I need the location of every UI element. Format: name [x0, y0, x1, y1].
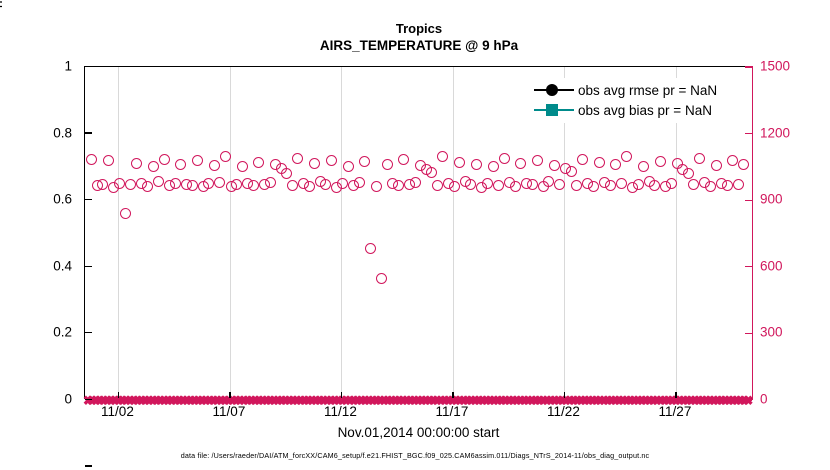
obs-possible-marker: [454, 157, 465, 168]
obs-possible-marker: [666, 178, 677, 189]
x-axis-tick-label: 11/27: [659, 404, 692, 419]
obs-possible-marker: [382, 159, 393, 170]
chart-title-line1: Tropics: [84, 20, 754, 37]
obs-possible-marker: [515, 158, 526, 169]
x-axis-tick-mark: [564, 392, 565, 398]
obs-possible-marker: [170, 178, 181, 189]
y-axis-right-label: # of obs: o=possible; x=assimilated: [812, 0, 826, 60]
obs-possible-marker: [187, 180, 198, 191]
obs-possible-marker: [655, 156, 666, 167]
legend-marker-circle-icon: [532, 81, 576, 99]
obs-possible-marker: [437, 151, 448, 162]
x-gridline: [118, 67, 119, 398]
obs-possible-marker: [510, 181, 521, 192]
y-axis-right-tick-mark: [745, 333, 752, 334]
obs-possible-marker: [103, 155, 114, 166]
obs-possible-marker: [192, 155, 203, 166]
obs-possible-marker: [292, 153, 303, 164]
y-axis-left-tick-mark: [85, 266, 92, 267]
obs-possible-marker: [320, 179, 331, 190]
obs-possible-marker: [326, 155, 337, 166]
y-axis-left-tick-mark: [85, 465, 92, 466]
right-axis-spine: [752, 66, 753, 400]
obs-possible-marker: [203, 178, 214, 189]
obs-possible-marker: [343, 161, 354, 172]
obs-possible-marker: [393, 180, 404, 191]
x-axis-tick-mark: [341, 392, 342, 398]
obs-possible-marker: [566, 166, 577, 177]
obs-possible-marker: [711, 160, 722, 171]
obs-possible-marker: [549, 160, 560, 171]
obs-possible-marker: [493, 180, 504, 191]
x-axis-tick-label: 11/22: [547, 404, 580, 419]
y-axis-left-tick-label: 0.8: [30, 125, 72, 140]
obs-possible-marker: [153, 176, 164, 187]
chart-title-line2: AIRS_TEMPERATURE @ 9 hPa: [84, 37, 754, 54]
obs-possible-marker: [577, 154, 588, 165]
obs-possible-marker: [571, 180, 582, 191]
obs-possible-marker: [488, 161, 499, 172]
obs-possible-marker: [588, 181, 599, 192]
y-axis-right-tick-label: 900: [760, 192, 783, 207]
y-axis-right-tick-mark: [745, 133, 752, 134]
obs-possible-marker: [722, 180, 733, 191]
obs-possible-marker: [426, 167, 437, 178]
y-axis-right-tick-label: 0: [760, 392, 768, 407]
chart-legend: obs avg rmse pr = NaNobs avg bias pr = N…: [528, 78, 723, 123]
obs-possible-marker: [738, 159, 749, 170]
y-axis-right-tick-mark: [745, 399, 752, 400]
obs-possible-marker: [594, 157, 605, 168]
obs-possible-marker: [705, 181, 716, 192]
obs-possible-marker: [97, 179, 108, 190]
obs-possible-marker: [410, 177, 421, 188]
x-axis-tick-mark: [229, 392, 230, 398]
obs-possible-marker: [616, 178, 627, 189]
y-axis-right-tick-label: 300: [760, 325, 783, 340]
obs-possible-marker: [125, 179, 136, 190]
obs-possible-marker: [432, 180, 443, 191]
y-axis-right-tick-mark: [745, 266, 752, 267]
x-axis-tick-mark: [452, 392, 453, 398]
x-axis-tick-mark: [675, 392, 676, 398]
data-file-caption: data file: /Users/raeder/DAI/ATM_forcXX/…: [0, 451, 830, 460]
obs-possible-marker: [337, 178, 348, 189]
obs-possible-marker: [638, 161, 649, 172]
x-axis-tick-label: 11/02: [101, 404, 134, 419]
y-axis-right-tick-label: 600: [760, 258, 783, 273]
obs-possible-marker: [142, 181, 153, 192]
obs-possible-marker: [265, 177, 276, 188]
y-axis-right-tick-mark: [745, 66, 752, 67]
obs-possible-marker: [633, 179, 644, 190]
chart-title: Tropics AIRS_TEMPERATURE @ 9 hPa: [84, 20, 754, 54]
obs-possible-marker: [175, 159, 186, 170]
obs-possible-marker: [727, 155, 738, 166]
x-axis-tick-label: 11/12: [324, 404, 357, 419]
y-axis-left-tick-label: 0.4: [30, 258, 72, 273]
y-axis-left-tick-label: 0: [30, 392, 72, 407]
obs-possible-marker: [148, 161, 159, 172]
y-axis-right-tick-mark: [745, 200, 752, 201]
x-axis-tick-label: 11/07: [213, 404, 246, 419]
obs-possible-marker: [449, 181, 460, 192]
legend-item[interactable]: obs avg rmse pr = NaN: [532, 80, 717, 100]
obs-possible-marker: [231, 179, 242, 190]
y-axis-left-tick-mark: [85, 199, 92, 200]
y-axis-left-label: rmse and bias (model - observation): [0, 0, 5, 50]
obs-possible-marker: [605, 180, 616, 191]
obs-possible-marker: [371, 181, 382, 192]
obs-possible-marker: [610, 159, 621, 170]
legend-marker-square-icon: [532, 101, 576, 119]
obs-possible-marker: [465, 179, 476, 190]
obs-possible-marker: [471, 159, 482, 170]
obs-possible-marker: [281, 168, 292, 179]
legend-item-label: obs avg bias pr = NaN: [576, 103, 712, 118]
obs-possible-marker: [398, 154, 409, 165]
obs-possible-marker: [309, 158, 320, 169]
x-axis-label: Nov.01,2014 00:00:00 start: [84, 425, 753, 440]
obs-possible-marker: [287, 180, 298, 191]
legend-item[interactable]: obs avg bias pr = NaN: [532, 100, 717, 120]
y-axis-left-tick-mark: [85, 332, 92, 333]
y-axis-left-tick-label: 0.2: [30, 325, 72, 340]
obs-possible-marker: [248, 180, 259, 191]
obs-possible-marker: [359, 156, 370, 167]
y-axis-left-tick-label: 0.6: [30, 192, 72, 207]
obs-possible-marker: [482, 178, 493, 189]
obs-possible-marker: [354, 177, 365, 188]
obs-possible-marker: [114, 178, 125, 189]
obs-possible-marker: [543, 176, 554, 187]
x-gridline: [453, 67, 454, 398]
obs-possible-marker: [365, 243, 376, 254]
obs-possible-marker: [86, 154, 97, 165]
obs-possible-marker: [376, 273, 387, 284]
obs-possible-marker: [683, 168, 694, 179]
figure-canvas: Tropics AIRS_TEMPERATURE @ 9 hPa rmse an…: [0, 0, 830, 470]
y-axis-right-tick-label: 1200: [760, 125, 790, 140]
obs-possible-marker: [253, 157, 264, 168]
obs-possible-marker: [131, 158, 142, 169]
y-axis-left-tick-label: 1: [30, 59, 72, 74]
obs-possible-marker: [304, 181, 315, 192]
obs-possible-marker: [621, 151, 632, 162]
obs-possible-marker: [532, 155, 543, 166]
obs-possible-marker: [209, 160, 220, 171]
obs-possible-marker: [733, 179, 744, 190]
obs-possible-marker: [237, 161, 248, 172]
y-axis-left-tick-mark: [85, 132, 92, 133]
legend-item-label: obs avg rmse pr = NaN: [576, 83, 717, 98]
obs-possible-marker: [649, 180, 660, 191]
obs-possible-marker: [120, 208, 131, 219]
y-axis-right-tick-label: 1500: [760, 59, 790, 74]
obs-possible-marker: [214, 177, 225, 188]
x-axis-tick-mark: [118, 392, 119, 398]
obs-possible-marker: [499, 153, 510, 164]
obs-possible-marker: [694, 153, 705, 164]
x-axis-tick-label: 11/17: [436, 404, 469, 419]
obs-possible-marker: [688, 179, 699, 190]
obs-possible-marker: [527, 179, 538, 190]
obs-possible-marker: [159, 154, 170, 165]
x-gridline: [230, 67, 231, 398]
y-axis-left-tick-mark: [85, 399, 92, 400]
x-gridline: [341, 67, 342, 398]
